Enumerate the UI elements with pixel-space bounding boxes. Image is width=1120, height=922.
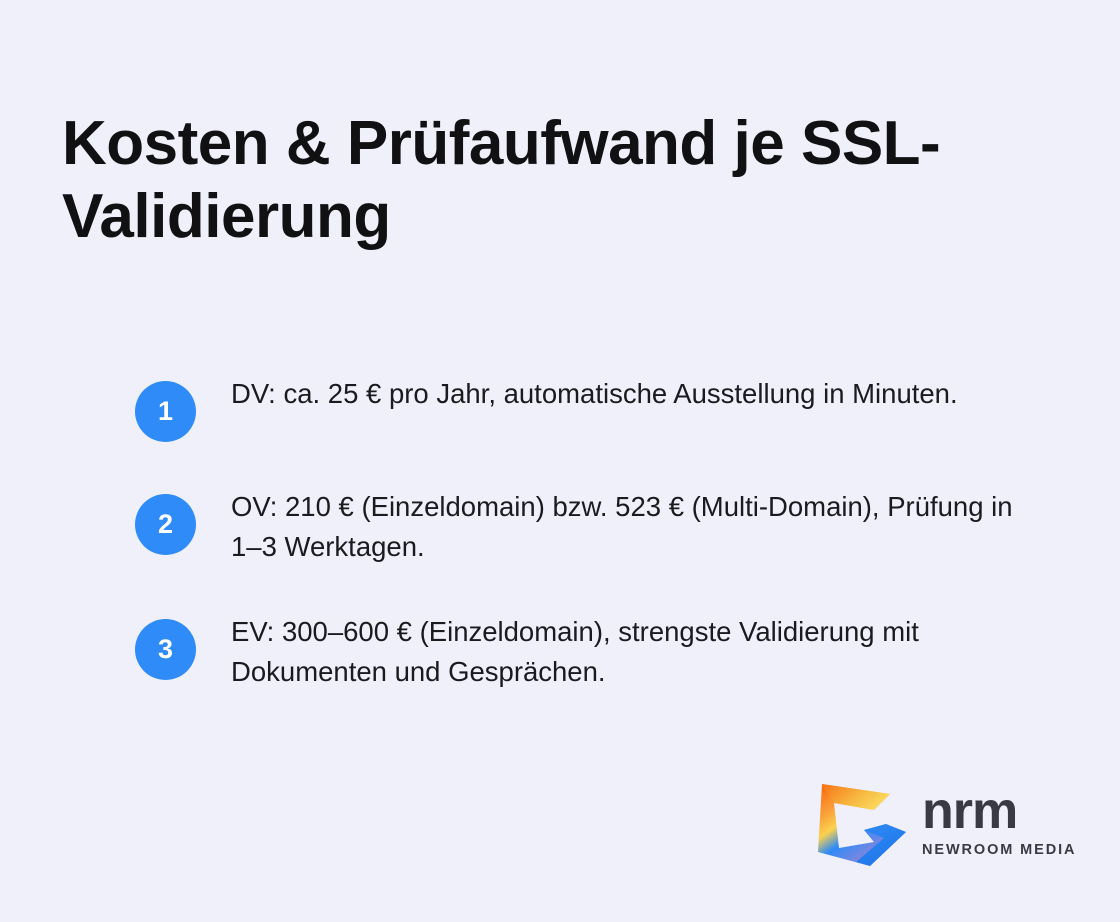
brand-logo: nrm NEWROOM MEDIA [812, 780, 1076, 868]
list-number-badge: 2 [135, 494, 196, 555]
slide-canvas: Kosten & Prüfaufwand je SSL-Validierung … [0, 0, 1120, 922]
list-item: 3 EV: 300–600 € (Einzeldomain), strengst… [135, 610, 1025, 692]
nrm-gradient-chevron-icon [812, 780, 910, 868]
logo-text-block: nrm NEWROOM MEDIA [922, 788, 1076, 861]
list-item-text: OV: 210 € (Einzeldomain) bzw. 523 € (Mul… [231, 485, 1021, 567]
numbered-list: 1 DV: ca. 25 € pro Jahr, automatische Au… [135, 372, 1025, 692]
logo-wordmark: nrm [922, 788, 1017, 836]
list-number-badge: 1 [135, 381, 196, 442]
list-item-text: EV: 300–600 € (Einzeldomain), strengste … [231, 610, 1021, 692]
list-item: 1 DV: ca. 25 € pro Jahr, automatische Au… [135, 372, 1025, 442]
page-title: Kosten & Prüfaufwand je SSL-Validierung [62, 108, 1022, 253]
list-item: 2 OV: 210 € (Einzeldomain) bzw. 523 € (M… [135, 485, 1025, 567]
logo-tagline: NEWROOM MEDIA [922, 842, 1076, 858]
list-number-badge: 3 [135, 619, 196, 680]
list-item-text: DV: ca. 25 € pro Jahr, automatische Auss… [231, 372, 958, 414]
